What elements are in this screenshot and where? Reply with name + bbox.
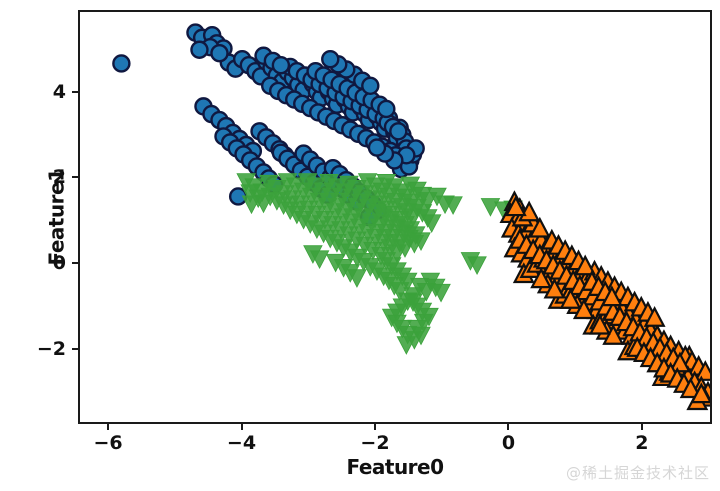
data-point: [481, 198, 499, 215]
data-point: [390, 123, 406, 139]
y-tick-mark: [72, 176, 78, 178]
x-axis-label: Feature0: [346, 455, 443, 479]
data-point: [273, 57, 289, 73]
y-axis-label: Feature1: [45, 168, 69, 265]
series-1: [237, 174, 522, 354]
matplotlib-figure: −6−4−202420−2 Feature0 Feature1 @稀土掘金技术社…: [0, 0, 720, 491]
y-tick-mark: [72, 348, 78, 350]
data-point: [322, 51, 338, 67]
x-tick-mark: [507, 424, 509, 430]
scatter-markers: [80, 12, 712, 424]
y-tick-mark: [72, 262, 78, 264]
x-tick-mark: [241, 424, 243, 430]
data-point: [378, 101, 394, 117]
data-point: [113, 55, 129, 71]
y-tick-label: −2: [37, 338, 66, 360]
x-tick-mark: [107, 424, 109, 430]
x-tick-label: −6: [93, 432, 122, 454]
x-tick-label: −4: [227, 432, 256, 454]
x-tick-label: 0: [502, 432, 515, 454]
marker-layer: [80, 12, 710, 422]
data-point: [191, 42, 207, 58]
x-tick-mark: [374, 424, 376, 430]
y-tick-mark: [72, 91, 78, 93]
watermark: @稀土掘金技术社区: [566, 462, 710, 483]
series-2: [501, 193, 712, 409]
data-point: [423, 215, 441, 232]
scatter-plot-axes: [78, 10, 712, 424]
data-point: [369, 140, 385, 156]
y-tick-label: 4: [53, 81, 66, 103]
x-tick-mark: [641, 424, 643, 430]
data-point: [211, 45, 227, 61]
data-point: [362, 78, 378, 94]
x-tick-label: −2: [360, 432, 389, 454]
x-tick-label: 2: [635, 432, 648, 454]
